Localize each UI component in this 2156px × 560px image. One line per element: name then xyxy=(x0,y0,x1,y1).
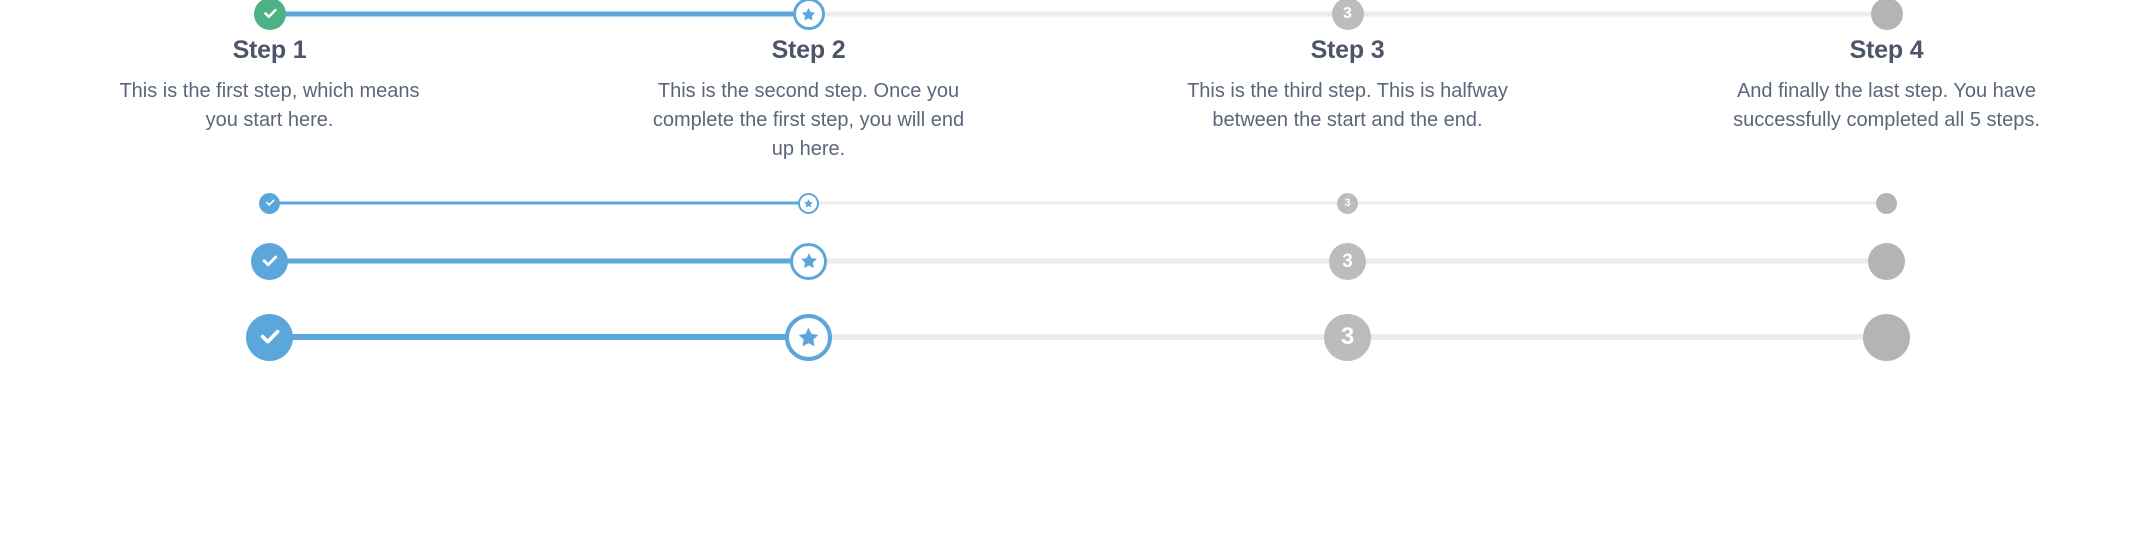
step-indicator-complete[interactable] xyxy=(259,193,280,214)
step-label-block-4: Step 4 And finally the last step. You ha… xyxy=(1617,36,2156,135)
check-icon xyxy=(261,5,279,23)
step-number-label: 3 xyxy=(1343,6,1352,22)
rail-segment-left xyxy=(1078,202,1348,205)
step-indicator-dot[interactable] xyxy=(1868,243,1905,280)
star-icon xyxy=(796,325,821,350)
rail-segment-left xyxy=(1617,334,1887,340)
rail-segment-right xyxy=(1348,259,1618,264)
step-number-label: 3 xyxy=(1344,198,1350,209)
rail-segment-right xyxy=(809,259,1079,264)
step-indicator-complete[interactable] xyxy=(246,314,293,361)
rail-segment-left xyxy=(1617,12,1887,17)
step-item-2[interactable]: Step 2 This is the second step. Once you… xyxy=(539,14,1078,164)
step-title: Step 4 xyxy=(1631,36,2142,65)
step-description: This is the first step, which means you … xyxy=(105,77,435,135)
step-number-label: 3 xyxy=(1342,252,1353,271)
step-description: And finally the last step. You have succ… xyxy=(1722,77,2052,135)
rail-segment-right xyxy=(809,12,1079,17)
step-title: Step 2 xyxy=(553,36,1064,65)
step-indicator-current[interactable] xyxy=(790,243,827,280)
rail-segment-left xyxy=(1617,259,1887,264)
step-item-1[interactable]: Step 1 This is the first step, which mea… xyxy=(0,14,539,135)
step-title: Step 1 xyxy=(14,36,525,65)
step-indicator-complete[interactable] xyxy=(254,0,286,30)
star-icon xyxy=(803,198,814,209)
rail-segment-right xyxy=(270,12,540,17)
rail-segment-right xyxy=(270,202,540,205)
rail-segment-right xyxy=(1348,12,1618,17)
rail-segment-right xyxy=(1348,202,1618,205)
check-icon xyxy=(264,197,276,209)
step-indicator-number[interactable]: 3 xyxy=(1337,193,1358,214)
check-icon xyxy=(256,324,283,351)
rail-segment-right xyxy=(270,334,540,340)
step-indicator-number[interactable]: 3 xyxy=(1324,314,1371,361)
step-label-block-2: Step 2 This is the second step. Once you… xyxy=(539,36,1078,164)
rail-segment-left xyxy=(539,202,809,205)
step-indicator-complete[interactable] xyxy=(251,243,288,280)
star-icon xyxy=(800,6,817,23)
step-indicator-dot[interactable] xyxy=(1876,193,1897,214)
stepper-demo-page: Step 1 This is the first step, which mea… xyxy=(0,0,2156,560)
step-description: This is the third step. This is halfway … xyxy=(1183,77,1513,135)
check-icon xyxy=(259,251,280,272)
rail-segment-left xyxy=(1078,259,1348,264)
step-description: This is the second step. Once you comple… xyxy=(644,77,974,164)
step-indicator-number[interactable]: 3 xyxy=(1329,243,1366,280)
rail-segment-left xyxy=(539,259,809,264)
step-item-3[interactable]: 3 Step 3 This is the third step. This is… xyxy=(1078,14,1617,135)
rail-segment-left xyxy=(1617,202,1887,205)
step-indicator-current[interactable] xyxy=(798,193,819,214)
rail-segment-left xyxy=(539,334,809,340)
step-item-4[interactable]: Step 4 And finally the last step. You ha… xyxy=(1617,14,2156,135)
step-title: Step 3 xyxy=(1092,36,1603,65)
rail-segment-right xyxy=(1348,334,1618,340)
rail-segment-right xyxy=(809,202,1079,205)
step-indicator-current[interactable] xyxy=(793,0,825,30)
step-number-label: 3 xyxy=(1341,325,1354,349)
step-label-block-1: Step 1 This is the first step, which mea… xyxy=(0,36,539,135)
labeled-stepper: Step 1 This is the first step, which mea… xyxy=(0,14,2156,164)
step-indicator-dot[interactable] xyxy=(1871,0,1903,30)
step-indicator-dot[interactable] xyxy=(1863,314,1910,361)
rail-segment-right xyxy=(270,259,540,264)
step-label-block-3: Step 3 This is the third step. This is h… xyxy=(1078,36,1617,135)
step-indicator-current[interactable] xyxy=(785,314,832,361)
rail-segment-left xyxy=(1078,334,1348,340)
rail-segment-left xyxy=(1078,12,1348,17)
step-indicator-number[interactable]: 3 xyxy=(1332,0,1364,30)
star-icon xyxy=(799,251,819,271)
rail-segment-right xyxy=(809,334,1079,340)
rail-segment-left xyxy=(539,12,809,17)
